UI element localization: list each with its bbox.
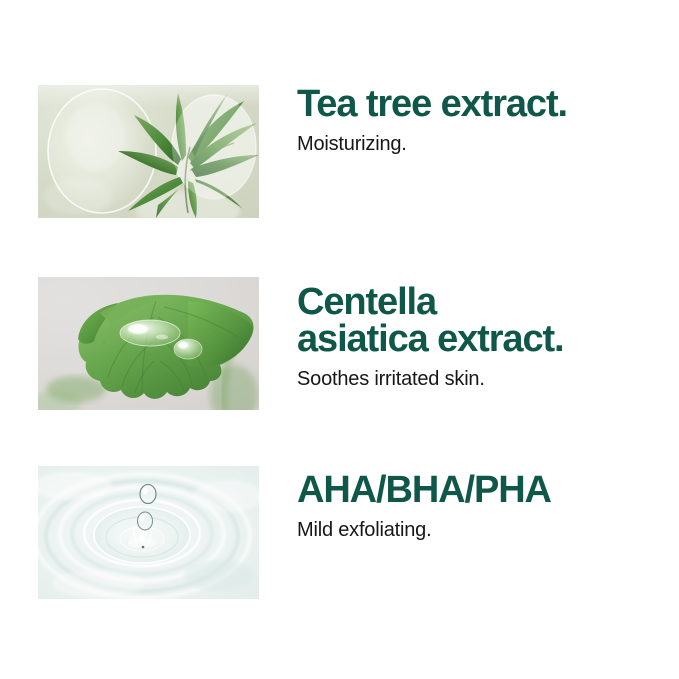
feature-row-tea-tree: Tea tree extract. Moisturizing. [0,85,679,218]
feature-subtitle-acids: Mild exfoliating. [297,518,679,542]
feature-title-acids: AHA/BHA/PHA [297,472,679,509]
feature-row-acids: AHA/BHA/PHA Mild exfoliating. [0,466,679,599]
feature-subtitle-centella: Soothes irritated skin. [297,367,679,391]
feature-subtitle-tea-tree: Moisturizing. [297,132,679,156]
water-ripple-droplet-photo [38,466,259,599]
feature-text-acids: AHA/BHA/PHA Mild exfoliating. [297,466,679,542]
product-ingredient-infographic: Tea tree extract. Moisturizing. [0,0,679,679]
feature-text-centella: Centella asiatica extract. Soothes irrit… [297,277,679,391]
feature-row-centella: Centella asiatica extract. Soothes irrit… [0,277,679,410]
feature-title-tea-tree: Tea tree extract. [297,86,679,123]
tea-tree-leaves-photo [38,85,259,218]
water-photo-artwork [38,466,259,599]
feature-text-tea-tree: Tea tree extract. Moisturizing. [297,85,679,156]
feature-title-centella: Centella asiatica extract. [297,284,679,358]
centella-photo-artwork [38,277,259,410]
tea-tree-photo-artwork [38,85,259,218]
centella-leaf-dewdrops-photo [38,277,259,410]
